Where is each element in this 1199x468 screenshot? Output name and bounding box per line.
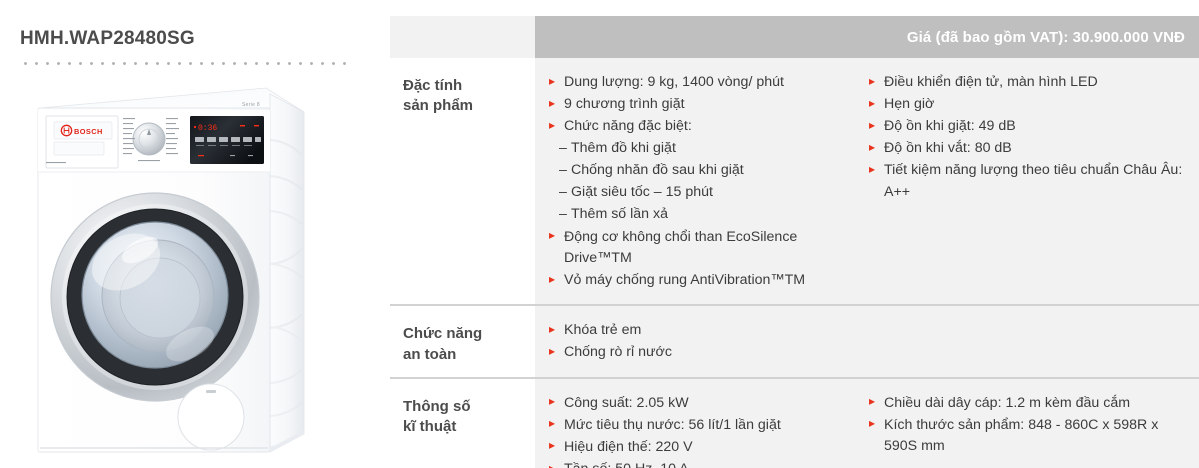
row-label-line1: Chức năng <box>403 325 482 342</box>
svg-text:BOSCH: BOSCH <box>74 127 103 136</box>
list-item: Khóa trẻ em <box>549 320 847 342</box>
specification-table: Giá (đã bao gồm VAT): 30.900.000 VNĐ Đặc… <box>390 16 1199 468</box>
price-header-spacer <box>390 16 535 58</box>
list-item: Chống nhăn đồ sau khi giặt <box>549 160 847 182</box>
list-item: Độ ồn khi vắt: 80 dB <box>869 138 1191 160</box>
list-item: Vỏ máy chống rung AntiVibration™TM <box>549 270 847 292</box>
column-left: Dung lượng: 9 kg, 1400 vòng/ phút 9 chươ… <box>535 72 855 292</box>
product-spec-page: HMH.WAP28480SG <box>0 0 1199 468</box>
list-item: Điều khiển điện tử, màn hình LED <box>869 72 1191 94</box>
list-item: Kích thước sản phẩm: 848 - 860C x 598R x… <box>869 415 1191 458</box>
list-item: Hẹn giờ <box>869 94 1191 116</box>
list-item: Thêm số lần xả <box>549 204 847 226</box>
row-content: Khóa trẻ em Chống rò rỉ nước <box>535 306 1199 377</box>
svg-text:Serie 8: Serie 8 <box>242 102 260 108</box>
bullet-list: Công suất: 2.05 kW Mức tiêu thụ nước: 56… <box>549 393 847 468</box>
product-left-panel: HMH.WAP28480SG <box>0 0 380 468</box>
svg-text:0:36: 0:36 <box>198 124 217 133</box>
table-row: Đặc tính sản phẩm Dung lượng: 9 kg, 1400… <box>390 58 1199 304</box>
bullet-list: Khóa trẻ em Chống rò rỉ nước <box>549 320 847 364</box>
row-content: Công suất: 2.05 kW Mức tiêu thụ nước: 56… <box>535 379 1199 468</box>
table-row: Chức năng an toàn Khóa trẻ em Chống rò r… <box>390 304 1199 377</box>
list-item: Hiệu điện thế: 220 V <box>549 437 847 459</box>
row-label-line2: sản phẩm <box>403 96 535 116</box>
row-label-product-features: Đặc tính sản phẩm <box>390 58 535 304</box>
row-label-line1: Đặc tính <box>403 77 462 94</box>
list-item: Tần số: 50 Hz, 10 A <box>549 459 847 468</box>
column-right <box>855 320 1199 365</box>
bullet-list: Chiều dài dây cáp: 1.2 m kèm đầu cắm Kíc… <box>869 393 1191 458</box>
list-item: Chức năng đặc biệt: <box>549 116 847 138</box>
price-label: Giá (đã bao gồm VAT): 30.900.000 VNĐ <box>907 29 1185 46</box>
row-label-line1: Thông số <box>403 398 471 415</box>
list-item: Mức tiêu thụ nước: 56 lít/1 lần giặt <box>549 415 847 437</box>
column-right: Điều khiển điện tử, màn hình LED Hẹn giờ… <box>855 72 1199 292</box>
price-header-band: Giá (đã bao gồm VAT): 30.900.000 VNĐ <box>535 16 1199 58</box>
list-item: Công suất: 2.05 kW <box>549 393 847 415</box>
row-content: Dung lượng: 9 kg, 1400 vòng/ phút 9 chươ… <box>535 58 1199 304</box>
list-item: Giặt siêu tốc – 15 phút <box>549 182 847 204</box>
dotted-divider <box>20 62 352 65</box>
list-item: 9 chương trình giặt <box>549 94 847 116</box>
list-item: Chống rò rỉ nước <box>549 342 847 364</box>
column-left: Công suất: 2.05 kW Mức tiêu thụ nước: 56… <box>535 393 855 468</box>
list-item: Dung lượng: 9 kg, 1400 vòng/ phút <box>549 72 847 94</box>
washing-machine-image: BOSCH <box>18 82 358 454</box>
list-item: Chiều dài dây cáp: 1.2 m kèm đầu cắm <box>869 393 1191 415</box>
price-header-row: Giá (đã bao gồm VAT): 30.900.000 VNĐ <box>390 16 1199 58</box>
bullet-list: Điều khiển điện tử, màn hình LED Hẹn giờ… <box>869 72 1191 203</box>
table-row: Thông số kĩ thuật Công suất: 2.05 kW Mức… <box>390 377 1199 468</box>
row-label-line2: an toàn <box>403 345 535 365</box>
column-right: Chiều dài dây cáp: 1.2 m kèm đầu cắm Kíc… <box>855 393 1199 468</box>
list-item: Tiết kiệm năng lượng theo tiêu chuẩn Châ… <box>869 160 1191 203</box>
page-title: HMH.WAP28480SG <box>20 28 195 50</box>
bullet-list: Dung lượng: 9 kg, 1400 vòng/ phút 9 chươ… <box>549 72 847 292</box>
list-item: Động cơ không chổi than EcoSilence Drive… <box>549 227 847 270</box>
list-item: Thêm đồ khi giặt <box>549 138 847 160</box>
row-label-technical-specs: Thông số kĩ thuật <box>390 379 535 468</box>
list-item: Độ ồn khi giặt: 49 dB <box>869 116 1191 138</box>
row-label-safety-functions: Chức năng an toàn <box>390 306 535 377</box>
column-left: Khóa trẻ em Chống rò rỉ nước <box>535 320 855 365</box>
row-label-line2: kĩ thuật <box>403 417 535 437</box>
